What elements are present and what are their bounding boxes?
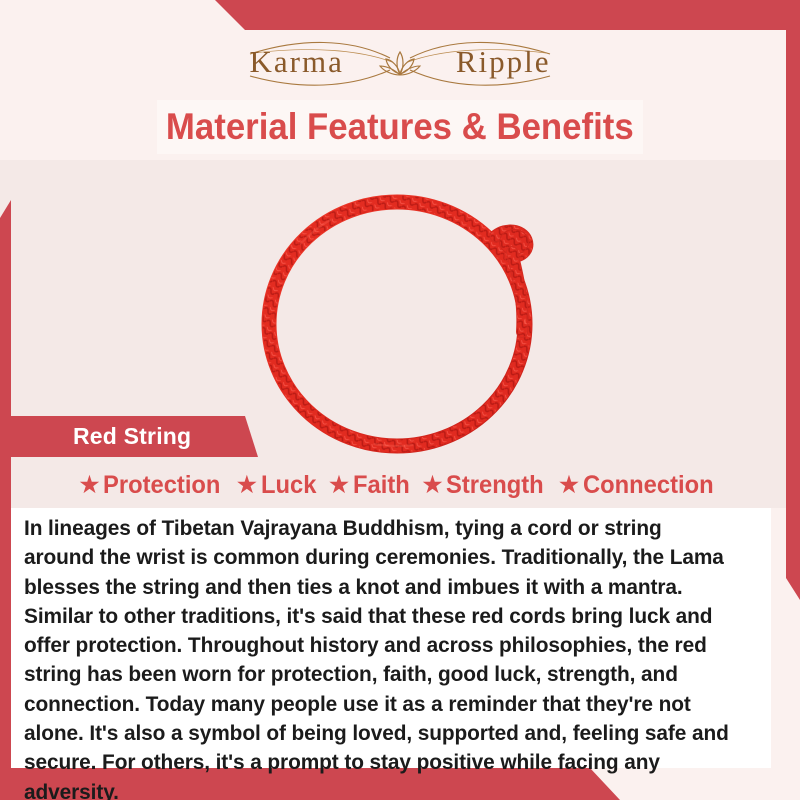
star-icon: ★ bbox=[80, 474, 100, 496]
description-panel: In lineages of Tibetan Vajrayana Buddhis… bbox=[11, 508, 771, 768]
feature-label-luck: Luck bbox=[261, 471, 316, 500]
material-label-banner: Red String bbox=[0, 416, 258, 457]
feature-item-strength: ★ Strength bbox=[418, 471, 555, 500]
feature-label-connection: Connection bbox=[583, 471, 714, 500]
page-title: Material Features & Benefits bbox=[166, 106, 634, 148]
features-list: ★ Protection ★ Luck ★ Faith ★ Strength ★… bbox=[0, 466, 800, 504]
feature-item-connection: ★ Connection bbox=[554, 471, 725, 500]
star-icon: ★ bbox=[329, 474, 349, 496]
star-icon: ★ bbox=[237, 474, 257, 496]
product-image-red-string-bracelet bbox=[250, 172, 560, 472]
feature-label-protection: Protection bbox=[103, 471, 220, 500]
feature-item-luck: ★ Luck bbox=[232, 471, 324, 500]
material-label: Red String bbox=[73, 423, 191, 450]
feature-item-protection: ★ Protection bbox=[75, 471, 232, 500]
feature-label-faith: Faith bbox=[353, 471, 410, 500]
description-text: In lineages of Tibetan Vajrayana Buddhis… bbox=[24, 514, 734, 800]
title-banner: Material Features & Benefits bbox=[157, 100, 643, 154]
star-icon: ★ bbox=[559, 474, 579, 496]
feature-label-strength: Strength bbox=[446, 471, 544, 500]
star-icon: ★ bbox=[423, 474, 443, 496]
decorative-frame-right bbox=[786, 0, 800, 600]
poster-canvas: KarmaRipple Material Features & Benefits bbox=[0, 0, 800, 800]
feature-item-faith: ★ Faith bbox=[324, 471, 417, 500]
